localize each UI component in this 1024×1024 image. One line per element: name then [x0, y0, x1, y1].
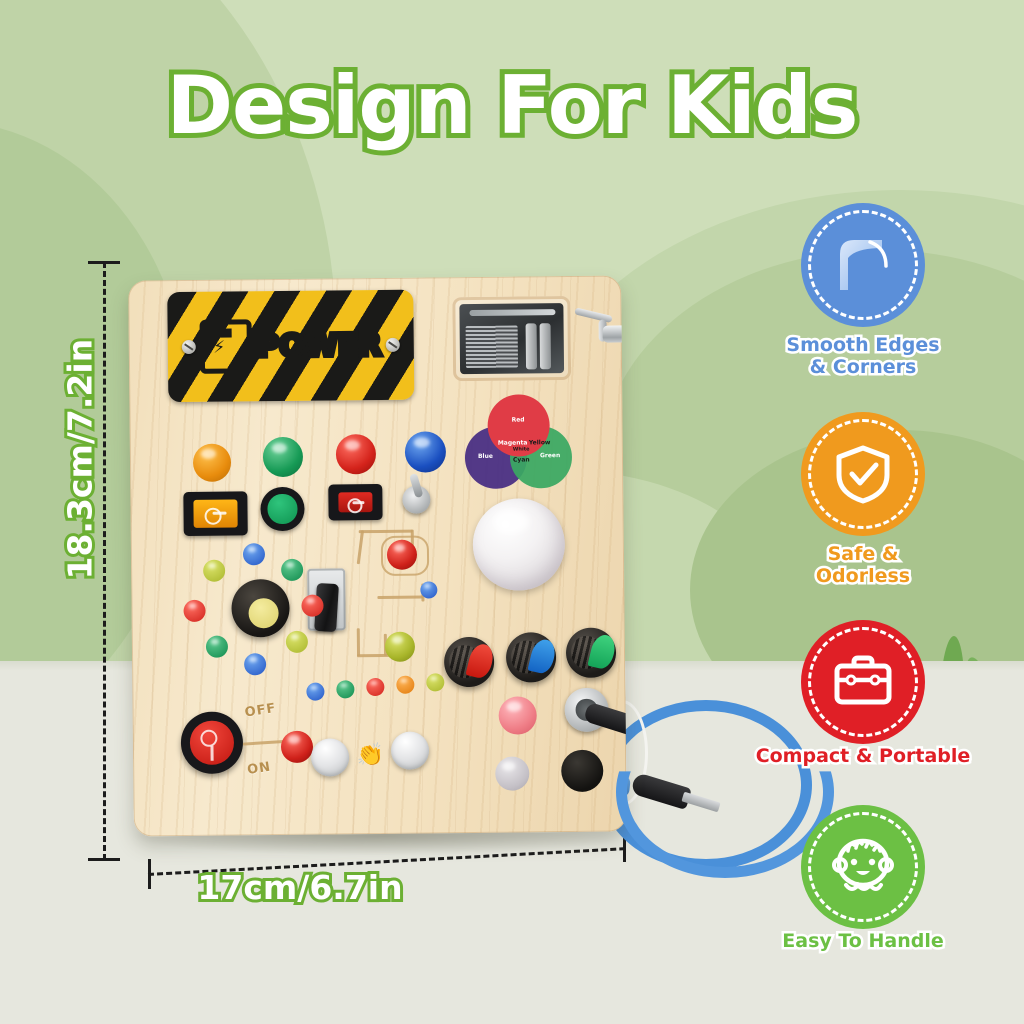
rotary-knob-green[interactable]	[566, 628, 617, 679]
venn-label-green: Green	[540, 452, 560, 459]
led-orange[interactable]	[193, 444, 231, 482]
venn-label-cyan: Cyan	[513, 456, 530, 463]
venn-label-red: Red	[512, 416, 525, 423]
badge-compact-portable[interactable]: Compact & Portable	[801, 620, 925, 744]
height-dimension-line	[103, 262, 106, 860]
led-bead-blue[interactable]	[243, 543, 265, 565]
engraved-circuit-line	[359, 530, 413, 534]
screw-icon	[386, 338, 400, 352]
music-box-module[interactable]	[452, 296, 571, 381]
led-bead-red[interactable]	[183, 600, 205, 622]
width-dimension-label: 17cm/6.7in	[150, 868, 450, 907]
power-box-icon	[200, 319, 253, 374]
screw-icon	[182, 340, 196, 354]
engraved-circuit-line	[357, 628, 360, 656]
led-blue[interactable]	[405, 431, 446, 472]
rounded-corner-icon	[801, 203, 925, 327]
inserted-key-body[interactable]	[583, 702, 627, 738]
busy-board[interactable]: POWER Red Green Blue Magenta Ye	[128, 275, 627, 836]
rocker-switch-amber[interactable]	[183, 491, 247, 536]
power-plate: POWER	[167, 290, 414, 403]
rocker-label-off: OFF	[244, 701, 278, 721]
music-crank-arm[interactable]	[574, 307, 613, 323]
height-dimension-label: 18.3cm/7.2in	[61, 350, 100, 580]
badge-label-line1: Compact & Portable	[756, 745, 971, 767]
led-bead-yellow[interactable]	[203, 560, 225, 582]
engraved-circuit-line	[377, 596, 423, 599]
badge-label-line2: & Corners	[810, 356, 917, 378]
led-bead-blue[interactable]	[244, 653, 266, 675]
clap-sensor-button-right[interactable]	[391, 731, 429, 769]
music-box-drum	[526, 323, 537, 369]
cable-socket-black[interactable]	[561, 750, 603, 792]
venn-label-white: White	[513, 446, 530, 452]
rocker-switch-red[interactable]	[328, 484, 382, 521]
height-dimension-cap-bottom	[88, 858, 120, 861]
led-bead-yellow[interactable]	[286, 631, 308, 653]
page-title: Design For Kids	[0, 66, 1024, 146]
toolbox-icon	[801, 620, 925, 744]
badge-label-compact-portable: Compact & Portable	[743, 746, 983, 768]
rgb-color-mixing-diagram: Red Green Blue Magenta Yellow Cyan White	[464, 394, 573, 487]
led-indicator-blue[interactable]	[306, 683, 324, 701]
dome-light[interactable]	[472, 498, 565, 591]
toggle-switch-lever[interactable]	[409, 473, 424, 498]
engraved-circuit-line	[357, 530, 364, 564]
music-box-bar	[469, 309, 555, 316]
main-power-rocker[interactable]	[181, 711, 244, 774]
music-box-drum	[540, 323, 551, 369]
music-box-comb	[466, 326, 518, 369]
led-indicator-yellow[interactable]	[426, 673, 444, 691]
button-grey-dome[interactable]	[495, 756, 529, 790]
led-red-main[interactable]	[281, 731, 313, 763]
venn-label-yellow: Yellow	[529, 439, 551, 446]
music-box-plate	[459, 303, 564, 374]
led-indicator-green[interactable]	[336, 680, 354, 698]
main-power-rocker-face	[190, 721, 234, 765]
rotary-knob-yellow-cap	[248, 598, 278, 628]
infographic-canvas: Design For Kids 18.3cm/7.2in 17cm/6.7in …	[0, 0, 1024, 1024]
led-red[interactable]	[336, 434, 376, 474]
badge-label-easy-to-handle: Easy To Handle	[743, 931, 983, 953]
toggle-switch[interactable]	[402, 485, 430, 513]
led-indicator-orange[interactable]	[396, 676, 414, 694]
led-indicator-red[interactable]	[366, 678, 384, 696]
badge-easy-to-handle[interactable]: Easy To Handle	[801, 805, 925, 929]
led-yellow-small[interactable]	[385, 632, 415, 662]
rotary-knob-red[interactable]	[444, 637, 495, 688]
badge-label-smooth-edges: Smooth Edges & Corners	[743, 335, 983, 379]
badge-label-safe-odorless: Safe & Odorless	[743, 544, 983, 588]
led-bead-green[interactable]	[206, 636, 228, 658]
led-blue-tiny[interactable]	[420, 581, 437, 598]
badge-label-line1: Safe &	[828, 543, 899, 565]
push-button-green[interactable]	[260, 487, 304, 531]
led-red-small[interactable]	[387, 540, 417, 570]
led-green[interactable]	[263, 437, 303, 477]
shield-check-icon	[801, 412, 925, 536]
clap-sensor-button-left[interactable]	[311, 738, 349, 776]
rotary-knob-blue[interactable]	[506, 632, 557, 683]
clapping-hands-icon: 👏	[353, 738, 387, 772]
push-button-green-cap	[268, 494, 297, 523]
baby-face-icon	[801, 805, 925, 929]
rotary-knob-black[interactable]	[231, 579, 290, 638]
led-bead-green[interactable]	[281, 559, 303, 581]
badge-smooth-edges[interactable]: Smooth Edges & Corners	[801, 203, 925, 327]
badge-safe-odorless[interactable]: Safe & Odorless	[801, 412, 925, 536]
badge-label-line2: Odorless	[816, 565, 910, 587]
badge-label-line1: Easy To Handle	[782, 930, 943, 952]
badge-label-line1: Smooth Edges	[786, 334, 939, 356]
button-pink-dome[interactable]	[498, 696, 536, 734]
rocker-label-on: ON	[246, 760, 272, 778]
venn-label-blue: Blue	[478, 453, 493, 460]
power-plate-label: POWER	[257, 327, 382, 363]
led-bead-red[interactable]	[301, 595, 323, 617]
